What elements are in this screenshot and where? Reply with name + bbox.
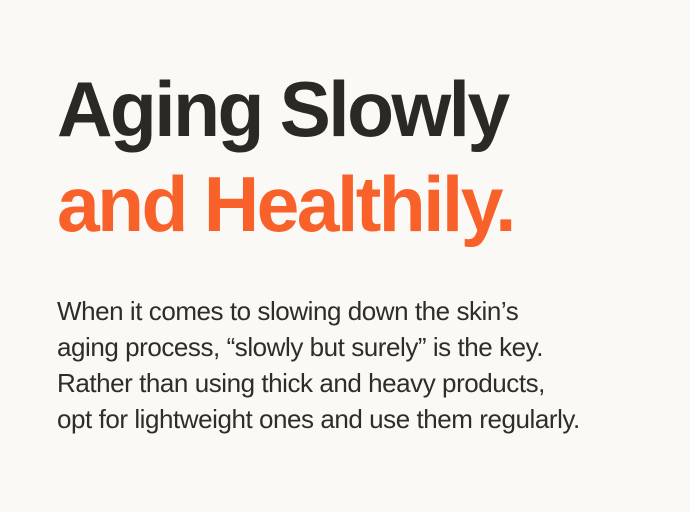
body-line-2: aging process, “slowly but surely” is th… — [57, 329, 657, 365]
body-line-1: When it comes to slowing down the skin’s — [57, 293, 657, 329]
page-title: Aging Slowly and Healthily. — [57, 62, 657, 252]
body-paragraph: When it comes to slowing down the skin’s… — [57, 293, 657, 437]
headline-line-accent: and Healthily. — [57, 157, 648, 252]
headline-line-primary: Aging Slowly — [57, 62, 648, 157]
body-line-4: opt for lightweight ones and use them re… — [57, 401, 657, 437]
body-line-3: Rather than using thick and heavy produc… — [57, 365, 657, 401]
poster-canvas: Aging Slowly and Healthily. When it come… — [0, 0, 690, 512]
headline-block: Aging Slowly and Healthily. — [57, 62, 657, 252]
